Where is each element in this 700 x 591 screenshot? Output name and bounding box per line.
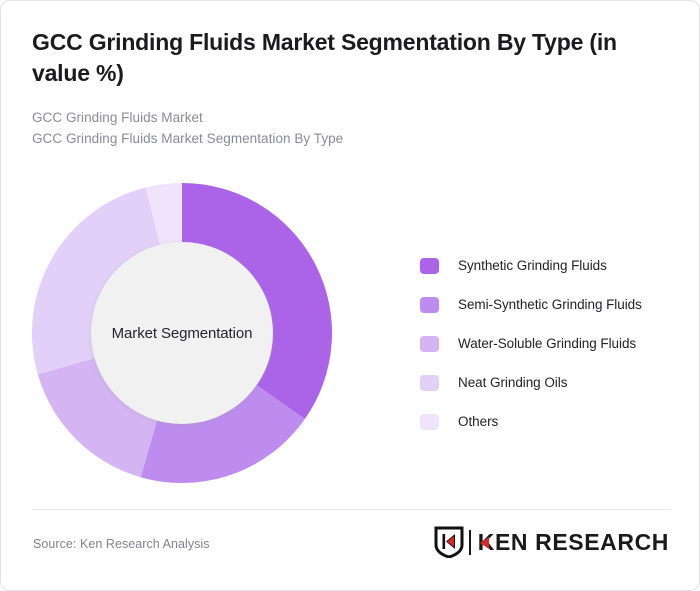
ken-research-logo: KEN RESEARCH: [434, 525, 669, 559]
brand-triangle-icon: [480, 537, 489, 549]
legend-label: Others: [458, 414, 498, 429]
legend-item[interactable]: Others: [420, 402, 680, 441]
brand-wordmark: KEN RESEARCH: [478, 531, 669, 554]
chart-header: GCC Grinding Fluids Market Segmentation …: [32, 27, 666, 150]
legend-item[interactable]: Semi-Synthetic Grinding Fluids: [420, 285, 680, 324]
ken-research-shield-k-icon: [434, 526, 464, 558]
legend-item[interactable]: Neat Grinding Oils: [420, 363, 680, 402]
legend-label: Water-Soluble Grinding Fluids: [458, 336, 636, 351]
logo-separator: [469, 530, 471, 555]
legend-label: Synthetic Grinding Fluids: [458, 258, 607, 273]
subtitle-group: GCC Grinding Fluids Market GCC Grinding …: [32, 108, 666, 150]
donut-svg: [32, 183, 332, 483]
legend-item[interactable]: Water-Soluble Grinding Fluids: [420, 324, 680, 363]
legend-label: Neat Grinding Oils: [458, 375, 567, 390]
donut-chart: Market Segmentation: [32, 183, 332, 483]
chart-legend: Synthetic Grinding FluidsSemi-Synthetic …: [420, 246, 680, 441]
brand-name-text: KEN RESEARCH: [478, 531, 669, 554]
legend-item[interactable]: Synthetic Grinding Fluids: [420, 246, 680, 285]
legend-swatch: [420, 258, 439, 274]
legend-swatch: [420, 336, 439, 352]
footer-divider: [32, 509, 670, 510]
legend-swatch: [420, 414, 439, 430]
subtitle-market: GCC Grinding Fluids Market: [32, 108, 666, 129]
donut-hole: [91, 242, 273, 424]
plot-area: Market Segmentation Synthetic Grinding F…: [1, 171, 700, 496]
source-note: Source: Ken Research Analysis: [33, 537, 210, 551]
legend-label: Semi-Synthetic Grinding Fluids: [458, 297, 642, 312]
subtitle-segmentation: GCC Grinding Fluids Market Segmentation …: [32, 129, 666, 150]
legend-swatch: [420, 375, 439, 391]
page-title: GCC Grinding Fluids Market Segmentation …: [32, 27, 666, 88]
legend-swatch: [420, 297, 439, 313]
chart-card: GCC Grinding Fluids Market Segmentation …: [0, 0, 700, 591]
